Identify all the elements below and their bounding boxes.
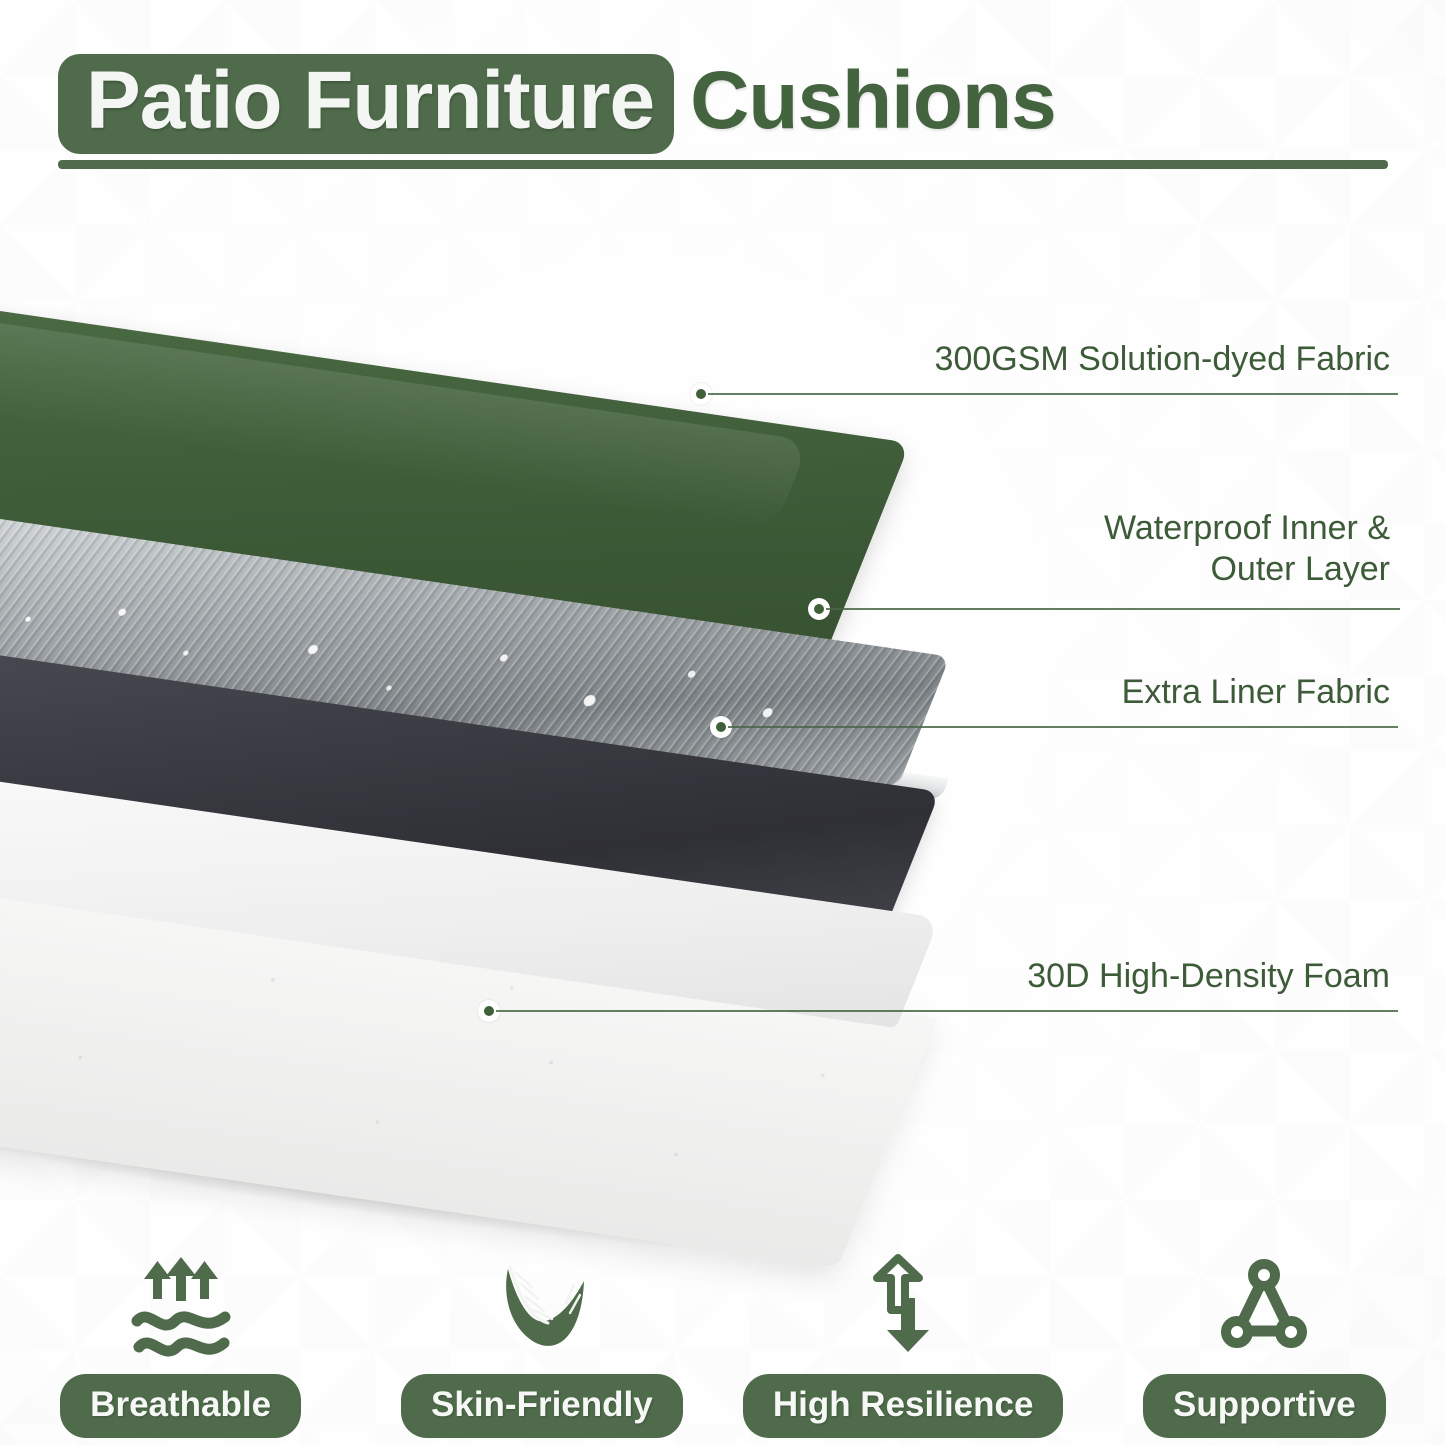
page-title: Patio Furniture Cushions	[58, 54, 1056, 154]
feature-pill-skin-friendly[interactable]: Skin-Friendly	[401, 1374, 683, 1438]
airflow-waves-icon	[121, 1250, 241, 1360]
feature-pill-breathable[interactable]: Breathable	[60, 1374, 301, 1438]
callout-label-foam: 30D High-Density Foam	[478, 956, 1390, 997]
feature-pill-supportive[interactable]: Supportive	[1143, 1374, 1386, 1438]
feature-supportive: Supportive	[1114, 1250, 1414, 1438]
callout-line-fabric	[708, 393, 1398, 395]
feature-skin-friendly: Skin-Friendly	[392, 1250, 692, 1438]
title-underline	[58, 160, 1388, 169]
feature-high-resilience: High Resilience	[753, 1250, 1053, 1438]
title-badge: Patio Furniture	[58, 54, 674, 154]
feature-pill-high-resilience[interactable]: High Resilience	[743, 1374, 1064, 1438]
up-down-arrows-icon	[843, 1250, 963, 1360]
feather-icon	[482, 1250, 602, 1360]
triangle-nodes-icon	[1204, 1250, 1324, 1360]
title-plain-text: Cushions	[690, 60, 1056, 148]
callout-label-liner: Extra Liner Fabric	[710, 672, 1390, 713]
feature-row: Breathable Skin-Friendly High Resilience	[0, 1208, 1445, 1438]
callout-label-fabric: 300GSM Solution-dyed Fabric	[690, 339, 1390, 380]
callout-label-waterproof: Waterproof Inner & Outer Layer	[808, 508, 1390, 591]
header: Patio Furniture Cushions	[0, 0, 1445, 185]
callout-line-foam	[496, 1010, 1398, 1012]
callout-line-waterproof	[826, 608, 1400, 610]
feature-breathable: Breathable	[31, 1250, 331, 1438]
title-badge-text: Patio Furniture	[86, 55, 654, 146]
callout-line-liner	[728, 726, 1398, 728]
